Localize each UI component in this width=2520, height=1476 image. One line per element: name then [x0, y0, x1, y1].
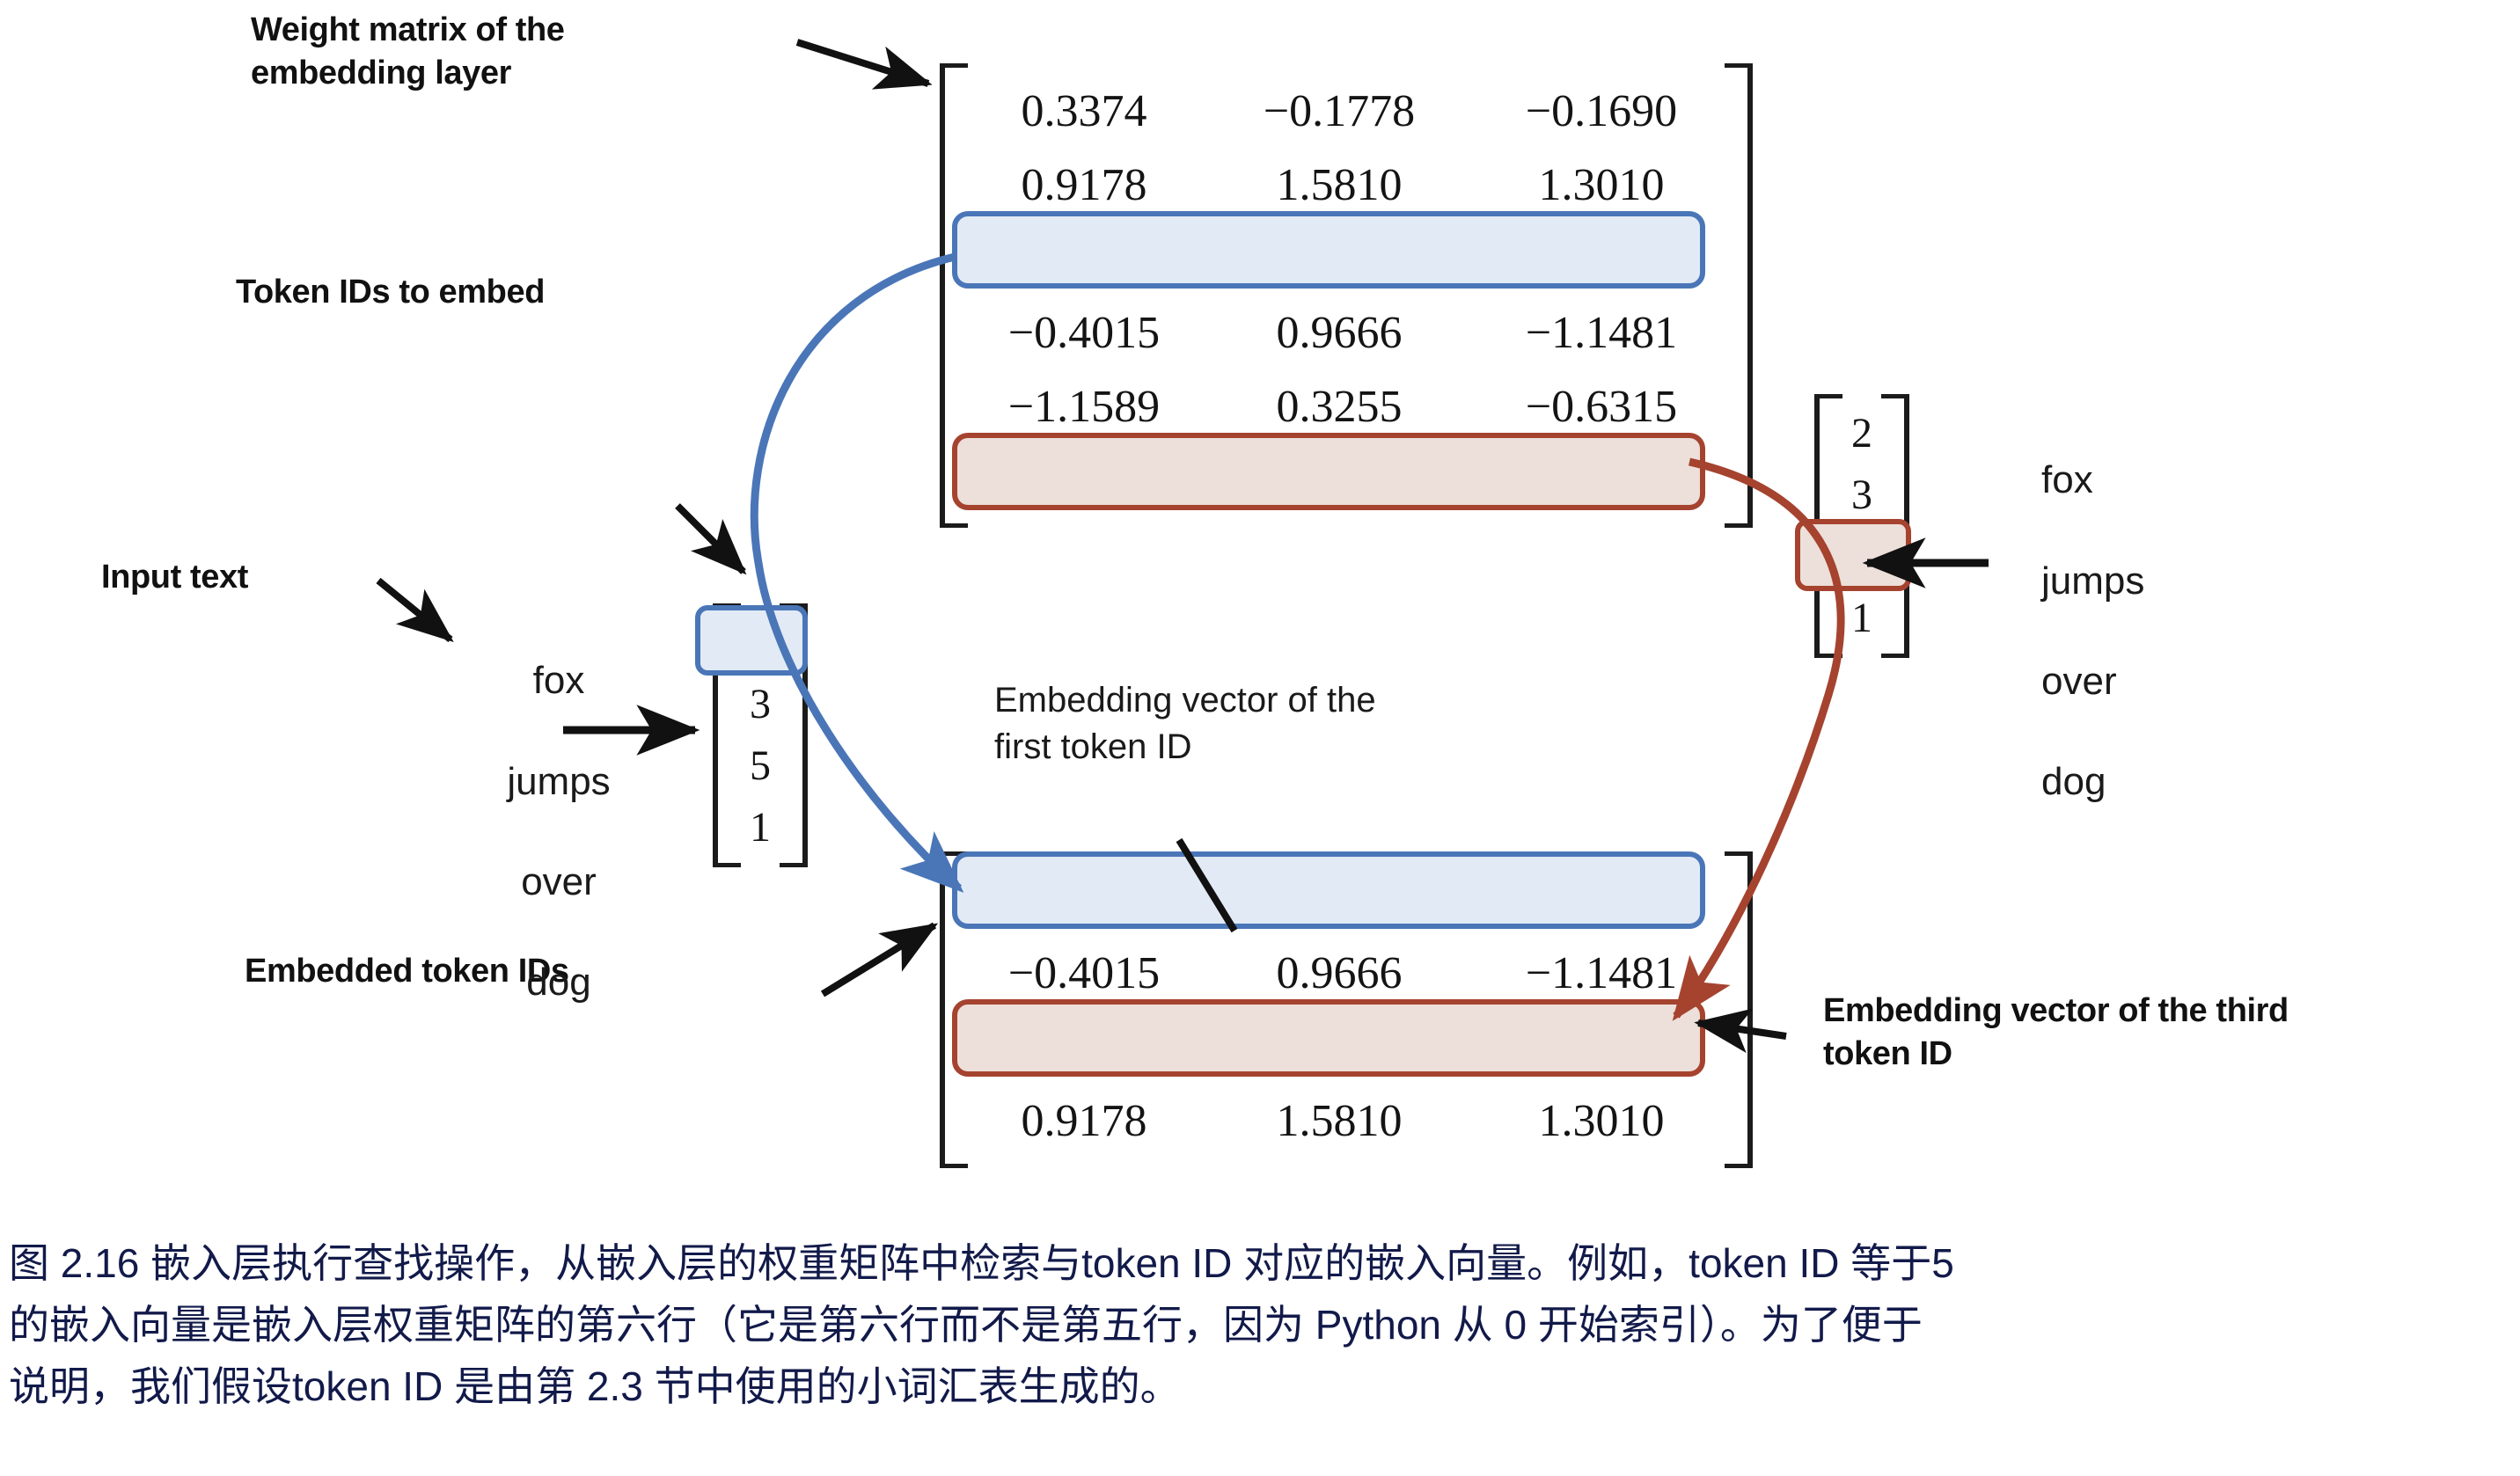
matrix-cell: −2.8400 — [959, 1021, 1209, 1073]
token-id-value: 3 — [1837, 464, 1886, 526]
token-id-row: 2 — [1837, 403, 1886, 464]
input-words-list: fox jumps over dog — [440, 605, 678, 1058]
caption-line: 说明，我们假设token ID 是由第 2.3 节中使用的小词汇表生成的。 — [9, 1356, 2516, 1418]
weight-matrix-row: 1.2753 −0.2010 −0.1606 — [959, 222, 1733, 296]
right-word: jumps — [2041, 556, 2305, 606]
matrix-cell: −2.8400 — [959, 455, 1209, 507]
figure-caption: 图 2.16 嵌入层执行查找操作，从嵌入层的权重矩阵中检索与token ID 对… — [9, 1233, 2516, 1418]
weight-matrix-row: −2.8400 −0.7849 −1.4096 — [959, 443, 1733, 517]
token-id-value: 1 — [1837, 588, 1886, 649]
token-id-row: 5 — [736, 735, 785, 797]
matrix-cell: −0.2010 — [1209, 873, 1469, 925]
weight-matrix: 0.3374 −0.1778 −0.1690 0.9178 1.5810 1.3… — [940, 63, 1753, 528]
embedded-matrix-row: −2.8400 −0.7849 −1.4096 — [959, 1010, 1733, 1084]
label-embedding-vector-third: Embedding vector of the third token ID — [1823, 990, 2457, 1075]
weight-matrix-row: −0.4015 0.9666 −1.1481 — [959, 296, 1733, 369]
label-embedding-vector-first: Embedding vector of the first token ID — [994, 677, 1610, 771]
label-input-text: Input text — [101, 556, 392, 599]
weight-matrix-row: 0.9178 1.5810 1.3010 — [959, 148, 1733, 222]
matrix-cell: 1.2753 — [959, 233, 1209, 285]
matrix-cell: 1.5810 — [1209, 159, 1469, 211]
matrix-cell: 0.3374 — [959, 85, 1209, 137]
token-id-row: 2 — [736, 612, 785, 674]
matrix-cell: −1.1589 — [959, 381, 1209, 433]
matrix-cell: 1.2753 — [959, 873, 1209, 925]
input-word: over — [440, 857, 678, 907]
token-id-row: 1 — [736, 797, 785, 859]
weight-matrix-row: −1.1589 0.3255 −0.6315 — [959, 369, 1733, 443]
arrow-weight-matrix — [797, 42, 928, 84]
matrix-cell: 0.9178 — [959, 1095, 1209, 1147]
caption-line: 图 2.16 嵌入层执行查找操作，从嵌入层的权重矩阵中检索与token ID 对… — [9, 1233, 2516, 1295]
matrix-cell: 0.3255 — [1209, 381, 1469, 433]
label-weight-matrix: Weight matrix of the embedding layer — [251, 9, 796, 94]
matrix-cell: −0.4015 — [959, 307, 1209, 359]
matrix-cell: −0.1606 — [1469, 233, 1733, 285]
embedded-matrix-row: 0.9178 1.5810 1.3010 — [959, 1084, 1733, 1158]
input-word: fox — [440, 655, 678, 705]
matrix-cell: 0.9666 — [1209, 307, 1469, 359]
token-id-vector-right: 2 3 5 1 — [1814, 394, 1909, 658]
matrix-cell: 1.3010 — [1469, 1095, 1733, 1147]
matrix-cell: −1.4096 — [1469, 455, 1733, 507]
token-id-value: 2 — [1837, 403, 1886, 464]
matrix-cell: −0.2010 — [1209, 233, 1469, 285]
input-word: jumps — [440, 756, 678, 807]
token-id-value: 5 — [736, 735, 785, 797]
matrix-cell: 1.5810 — [1209, 1095, 1469, 1147]
figure-canvas: Weight matrix of the embedding layer Tok… — [0, 0, 2520, 1476]
token-id-value: 3 — [736, 674, 785, 735]
token-id-row: 3 — [1837, 464, 1886, 526]
matrix-cell: −0.6315 — [1469, 381, 1733, 433]
matrix-cell: 1.3010 — [1469, 159, 1733, 211]
token-id-value: 2 — [736, 612, 785, 674]
arrow-token-ids-to-embed — [678, 506, 744, 572]
token-id-value: 1 — [736, 797, 785, 859]
matrix-cell: −0.7849 — [1209, 1021, 1469, 1073]
embedded-matrix: 1.2753 −0.2010 −0.1606 −0.4015 0.9666 −1… — [940, 851, 1753, 1168]
token-id-row: 5 — [1837, 526, 1886, 588]
input-word: dog — [440, 957, 678, 1007]
matrix-cell: 0.9178 — [959, 159, 1209, 211]
right-word: fox — [2041, 455, 2305, 505]
token-id-value: 5 — [1837, 526, 1886, 588]
right-word: dog — [2041, 756, 2305, 807]
matrix-cell: −1.1481 — [1469, 947, 1733, 999]
embedded-matrix-row: 1.2753 −0.2010 −0.1606 — [959, 862, 1733, 936]
token-id-row: 3 — [736, 674, 785, 735]
matrix-cell: −1.1481 — [1469, 307, 1733, 359]
weight-matrix-row: 0.3374 −0.1778 −0.1690 — [959, 74, 1733, 148]
arrow-embedded-token-ids — [823, 925, 934, 994]
matrix-cell: −0.1690 — [1469, 85, 1733, 137]
matrix-cell: −0.1778 — [1209, 85, 1469, 137]
matrix-cell: −0.1606 — [1469, 873, 1733, 925]
matrix-cell: 0.9666 — [1209, 947, 1469, 999]
right-words-list: fox jumps over dog — [2041, 405, 2305, 858]
token-id-row: 1 — [1837, 588, 1886, 649]
matrix-cell: −1.4096 — [1469, 1021, 1733, 1073]
matrix-cell: −0.4015 — [959, 947, 1209, 999]
caption-line: 的嵌入向量是嵌入层权重矩阵的第六行（它是第六行而不是第五行，因为 Python … — [9, 1295, 2516, 1356]
embedded-matrix-row: −0.4015 0.9666 −1.1481 — [959, 936, 1733, 1010]
matrix-cell: −0.7849 — [1209, 455, 1469, 507]
token-id-vector-left: 2 3 5 1 — [713, 603, 808, 867]
label-token-ids-to-embed: Token IDs to embed — [236, 271, 729, 314]
right-word: over — [2041, 656, 2305, 706]
